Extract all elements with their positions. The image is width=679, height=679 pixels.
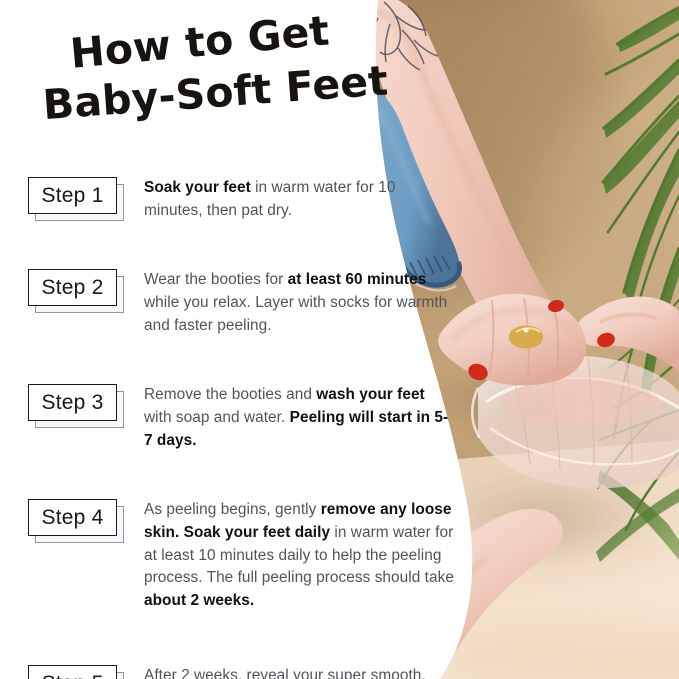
step-description: Remove the booties and wash your feet wi… bbox=[144, 382, 456, 453]
step-description: Wear the booties for at least 60 minutes… bbox=[144, 267, 456, 338]
step-badge-face: Step 5 bbox=[28, 665, 117, 679]
infographic-root: How to Get Baby-Soft Feet Step 1Soak you… bbox=[0, 0, 679, 679]
step-text-run: Remove the booties and bbox=[144, 386, 316, 403]
step-text-run: with soap and water. bbox=[144, 409, 290, 426]
step-text-run: while you relax. Layer with socks for wa… bbox=[144, 294, 447, 334]
steps-list: Step 1Soak your feet in warm water for 1… bbox=[0, 175, 470, 679]
content-area: How to Get Baby-Soft Feet Step 1Soak you… bbox=[0, 0, 679, 679]
step-badge-1: Step 1 bbox=[28, 177, 124, 217]
step-description: After 2 weeks, reveal your super smooth,… bbox=[144, 663, 456, 679]
step-badge-face: Step 3 bbox=[28, 384, 117, 421]
step-badge-face: Step 1 bbox=[28, 177, 117, 214]
step-badge-2: Step 2 bbox=[28, 269, 124, 309]
step-badge-label: Step 4 bbox=[42, 507, 104, 528]
step-badge-4: Step 4 bbox=[28, 499, 124, 539]
step-text-run: After 2 weeks, reveal your super smooth, bbox=[144, 667, 426, 679]
step-text-run: As peeling begins, gently bbox=[144, 501, 321, 518]
step-description: Soak your feet in warm water for 10 minu… bbox=[144, 175, 456, 223]
step-badge-5: Step 5 bbox=[28, 665, 124, 679]
step-row: Step 2Wear the booties for at least 60 m… bbox=[0, 267, 470, 338]
page-title: How to Get Baby-Soft Feet bbox=[68, 0, 406, 133]
step-text-emphasis: at least 60 minutes bbox=[288, 271, 427, 288]
step-text-emphasis: Soak your feet bbox=[144, 179, 251, 196]
step-badge-label: Step 5 bbox=[42, 673, 104, 679]
step-badge-3: Step 3 bbox=[28, 384, 124, 424]
step-badge-label: Step 3 bbox=[42, 392, 104, 413]
step-text-run: Wear the booties for bbox=[144, 271, 288, 288]
step-badge-face: Step 4 bbox=[28, 499, 117, 536]
step-badge-label: Step 2 bbox=[42, 277, 104, 298]
step-badge-label: Step 1 bbox=[42, 185, 104, 206]
step-row: Step 4As peeling begins, gently remove a… bbox=[0, 497, 470, 614]
step-description: As peeling begins, gently remove any loo… bbox=[144, 497, 456, 614]
step-badge-face: Step 2 bbox=[28, 269, 117, 306]
step-text-emphasis: wash your feet bbox=[316, 386, 424, 403]
step-row: Step 1Soak your feet in warm water for 1… bbox=[0, 175, 470, 223]
step-row: Step 3Remove the booties and wash your f… bbox=[0, 382, 470, 453]
step-row: Step 5After 2 weeks, reveal your super s… bbox=[0, 663, 470, 679]
step-text-emphasis: about 2 weeks. bbox=[144, 592, 254, 609]
